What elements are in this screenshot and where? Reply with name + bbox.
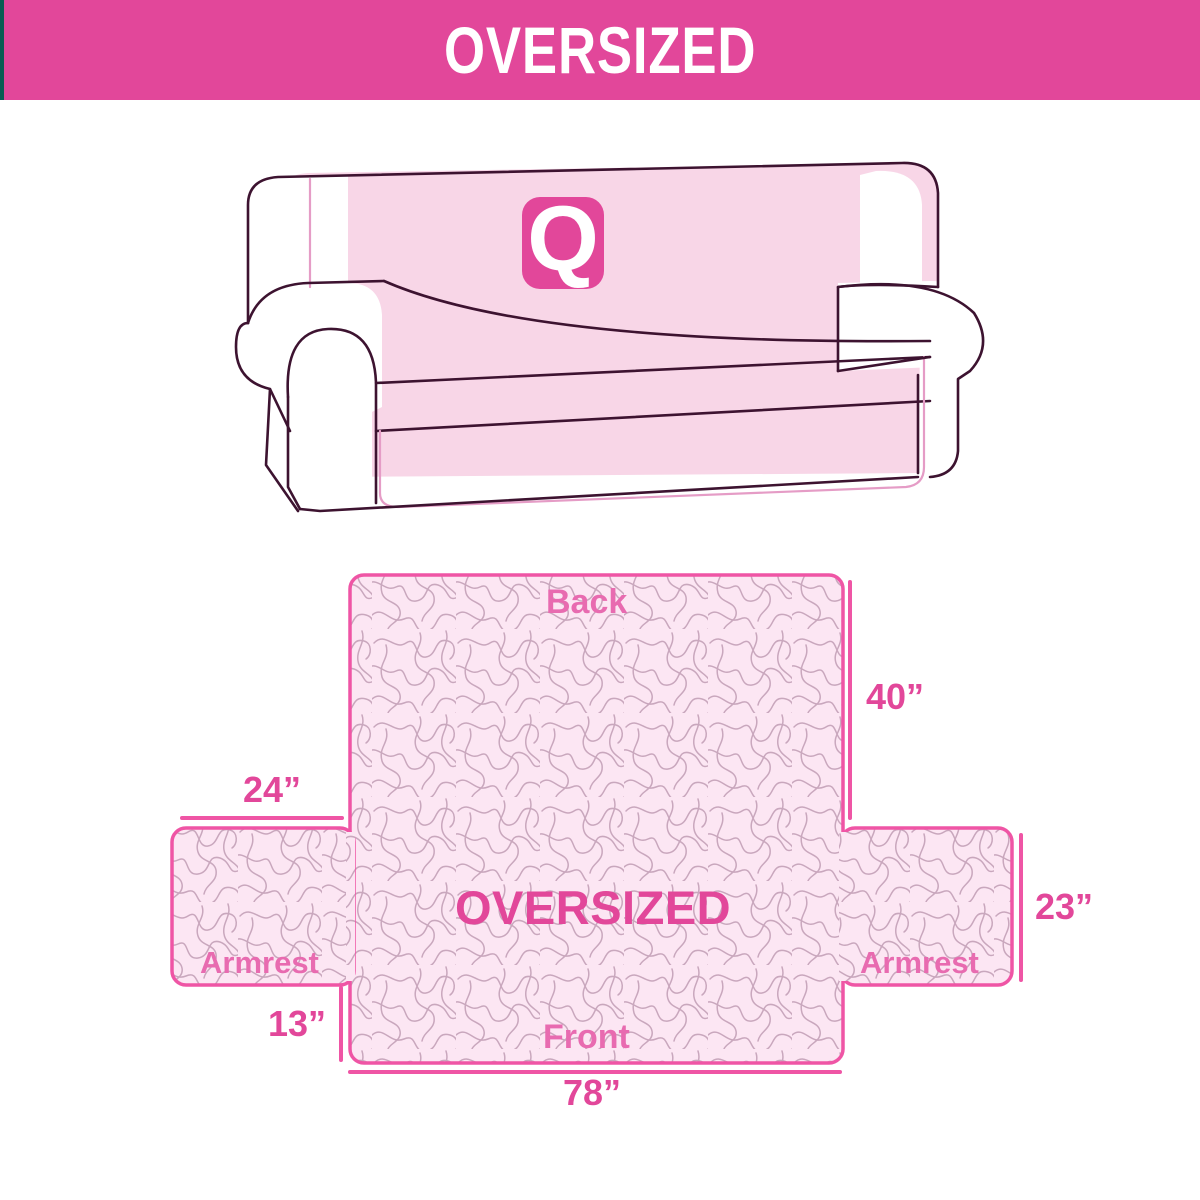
panel-label-center: OVERSIZED xyxy=(455,880,731,935)
panel-center-body xyxy=(350,575,843,1063)
header-banner: OVERSIZED xyxy=(0,0,1200,100)
dimension-label-armrest-width: 24” xyxy=(243,769,301,811)
header-edge-strip xyxy=(0,0,4,100)
panel-label-front: Front xyxy=(543,1018,630,1057)
sofa-front-skirt xyxy=(316,367,930,477)
page-title: OVERSIZED xyxy=(444,17,756,83)
panel-label-armrest-left: Armrest xyxy=(200,945,319,981)
dimension-label-back-height: 40” xyxy=(866,676,924,718)
dimension-label-overall-width: 78” xyxy=(563,1072,621,1114)
sofa-illustration: .ol { fill:none; stroke:#3d1330; stroke-… xyxy=(230,135,990,515)
dimension-label-armrest-height: 23” xyxy=(1035,886,1093,928)
panel-label-back: Back xyxy=(546,583,627,622)
brand-logo-q: Q xyxy=(522,188,604,290)
dimension-label-front-offset: 13” xyxy=(268,1003,326,1045)
sofa-base-outline xyxy=(300,477,918,511)
sofa-right-back-wing xyxy=(860,171,922,299)
panel-label-armrest-right: Armrest xyxy=(860,945,979,981)
seam-cover-right xyxy=(839,832,848,981)
sofa-drawing: .ol { fill:none; stroke:#3d1330; stroke-… xyxy=(230,135,990,515)
seam-cover-left xyxy=(346,832,355,981)
logo-letter: Q xyxy=(527,188,599,290)
